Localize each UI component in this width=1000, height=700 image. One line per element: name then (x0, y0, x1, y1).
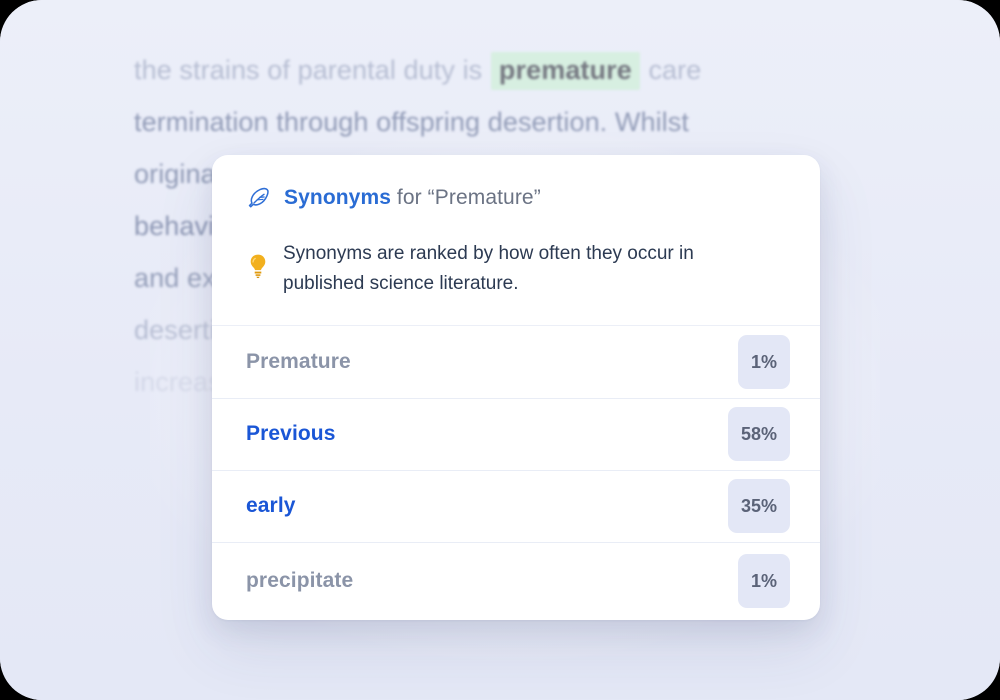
screenshot-stage: the strains of parental duty is prematur… (0, 0, 1000, 700)
synonym-row-premature[interactable]: Premature 1% (212, 326, 820, 398)
synonym-percent-badge: 58% (728, 407, 790, 461)
synonyms-list: Premature 1% Previous 58% early 35% prec… (212, 326, 820, 620)
synonym-word: Premature (246, 350, 351, 374)
popup-hint-text: Synonyms are ranked by how often they oc… (283, 239, 743, 299)
article-line: the strains of parental duty is prematur… (134, 44, 870, 96)
article-line-post: care (641, 55, 702, 85)
article-line: termination through offspring desertion.… (134, 96, 870, 148)
popup-title: Synonyms for “Premature” (284, 185, 541, 211)
synonym-percent-badge: 1% (738, 335, 790, 389)
synonym-row-precipitate[interactable]: precipitate 1% (212, 542, 820, 620)
synonym-word: precipitate (246, 569, 353, 593)
popup-title-rest: for “Premature” (391, 186, 541, 209)
synonyms-popup-card: Synonyms for “Premature” Synonyms are ra… (212, 155, 820, 620)
synonym-percent-badge: 35% (728, 479, 790, 533)
synonym-row-early[interactable]: early 35% (212, 470, 820, 542)
feather-icon (246, 185, 272, 211)
synonym-row-previous[interactable]: Previous 58% (212, 398, 820, 470)
lightbulb-icon (246, 253, 270, 279)
article-line-pre: the strains of parental duty is (134, 55, 490, 85)
popup-title-row: Synonyms for “Premature” (246, 185, 786, 211)
page-frame: the strains of parental duty is prematur… (0, 0, 1000, 700)
synonym-word: early (246, 494, 296, 518)
highlighted-word: premature (491, 52, 640, 90)
synonym-word: Previous (246, 422, 336, 446)
popup-hint-row: Synonyms are ranked by how often they oc… (246, 239, 786, 299)
popup-header: Synonyms for “Premature” Synonyms are ra… (212, 155, 820, 326)
synonym-percent-badge: 1% (738, 554, 790, 608)
popup-title-keyword: Synonyms (284, 186, 391, 209)
